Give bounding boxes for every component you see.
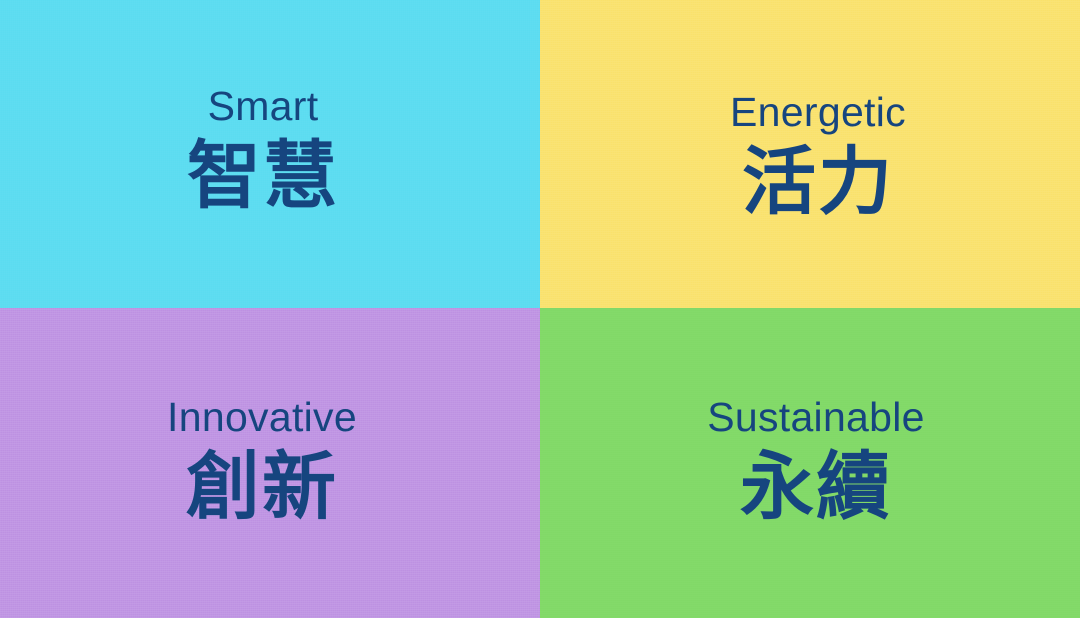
chinese-label-sustainable: 永續 xyxy=(707,446,925,529)
english-label-innovative: Innovative xyxy=(167,397,357,438)
chinese-label-smart: 智慧 xyxy=(187,135,339,218)
chinese-label-energetic: 活力 xyxy=(730,141,906,224)
chinese-label-innovative: 創新 xyxy=(167,446,357,529)
label-block-energetic: Energetic 活力 xyxy=(730,92,906,224)
english-label-energetic: Energetic xyxy=(730,92,906,133)
quadrant-sustainable: Sustainable 永續 xyxy=(540,308,1080,618)
label-block-innovative: Innovative 創新 xyxy=(167,397,357,529)
english-label-sustainable: Sustainable xyxy=(707,397,925,438)
english-label-smart: Smart xyxy=(187,86,339,127)
quadrant-innovative: Innovative 創新 xyxy=(0,308,540,618)
brand-values-board: Smart 智慧 Energetic 活力 Innovative 創新 Sust… xyxy=(0,0,1080,618)
label-block-sustainable: Sustainable 永續 xyxy=(707,397,925,529)
quadrant-smart: Smart 智慧 xyxy=(0,0,540,308)
quadrant-energetic: Energetic 活力 xyxy=(540,0,1080,308)
label-block-smart: Smart 智慧 xyxy=(187,86,339,218)
